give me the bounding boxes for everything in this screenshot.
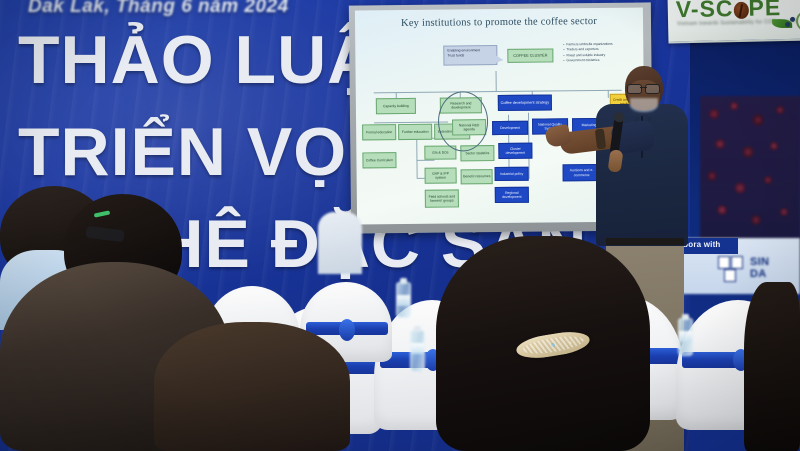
eyeglasses-icon — [627, 84, 660, 92]
coffee-bean-icon — [733, 2, 748, 19]
connector-line — [416, 160, 434, 161]
certification-seal-icon — [796, 10, 800, 31]
vscope-prefix: V-SC — [676, 0, 734, 22]
node-further-education: Further education — [398, 124, 432, 140]
enabling-environment-callout: Enabling environment Trust funds — [443, 45, 497, 66]
water-bottle — [396, 282, 411, 318]
speaker-beard — [630, 98, 658, 112]
node-capacity-building: Capacity building — [376, 98, 416, 114]
node-coffee-development-strategy: Coffee development strategy — [498, 94, 552, 111]
node-development: Development — [492, 121, 528, 135]
banner-date-line: Dak Lak, Tháng 6 năm 2024 — [28, 0, 289, 18]
highlight-ellipse — [438, 91, 489, 152]
node-coffee-cluster: COFFEE CLUSTER — [507, 48, 553, 62]
chair-sash — [306, 322, 388, 335]
cluster-bullet: Government ministries — [563, 58, 641, 64]
partner-name: SIN DA — [750, 256, 769, 280]
cluster-bullet-list: Farmers umbrella organizations Traders a… — [563, 42, 641, 64]
partner-name-line-2: DA — [750, 268, 769, 280]
vscope-wordmark: V-SCPE — [676, 0, 782, 21]
pepper-berry-icon — [790, 17, 795, 22]
node-coffee-curriculum: Coffee Curriculum — [362, 152, 396, 168]
water-bottle — [410, 330, 425, 372]
connector-line — [608, 90, 609, 98]
partner-name-line-1: SIN — [750, 256, 769, 268]
vscope-suffix: PE — [748, 0, 781, 21]
audience-head — [154, 322, 350, 451]
node-genetic-resources: Genetic resources — [461, 169, 493, 184]
partner-logo-icon — [718, 256, 744, 280]
vscope-sponsor-sign: V-SCPE Vietnam towards Sustainability fo… — [668, 0, 800, 43]
node-formal-education: Formal education — [362, 124, 396, 140]
node-auctions-ecommerce: Auctions and e-commerce — [563, 164, 601, 181]
slide-title: Key institutions to promote the coffee s… — [355, 15, 643, 29]
speaker-belt — [606, 238, 684, 245]
water-bottle — [678, 318, 693, 356]
node-field-schools-farmers-groups: Field schools and farmers' groups — [425, 189, 459, 207]
node-cluster-development: Cluster development — [498, 143, 532, 159]
node-gap-ipp-system: GAP & IPP system — [425, 167, 457, 183]
connector-line — [374, 90, 622, 93]
presentation-photo-scene: Dak Lak, Tháng 6 năm 2024 THẢO LUẬN TRIỂ… — [0, 0, 800, 451]
node-industrial-policy: Industrial policy — [495, 167, 529, 181]
callout-line-2: Trust funds — [447, 53, 493, 58]
audience-shoulder — [318, 212, 362, 274]
node-regional-development: Regional development — [495, 187, 529, 203]
audience-head — [744, 282, 800, 451]
pepper-berry-icon — [785, 22, 790, 27]
connector-line — [496, 71, 497, 91]
